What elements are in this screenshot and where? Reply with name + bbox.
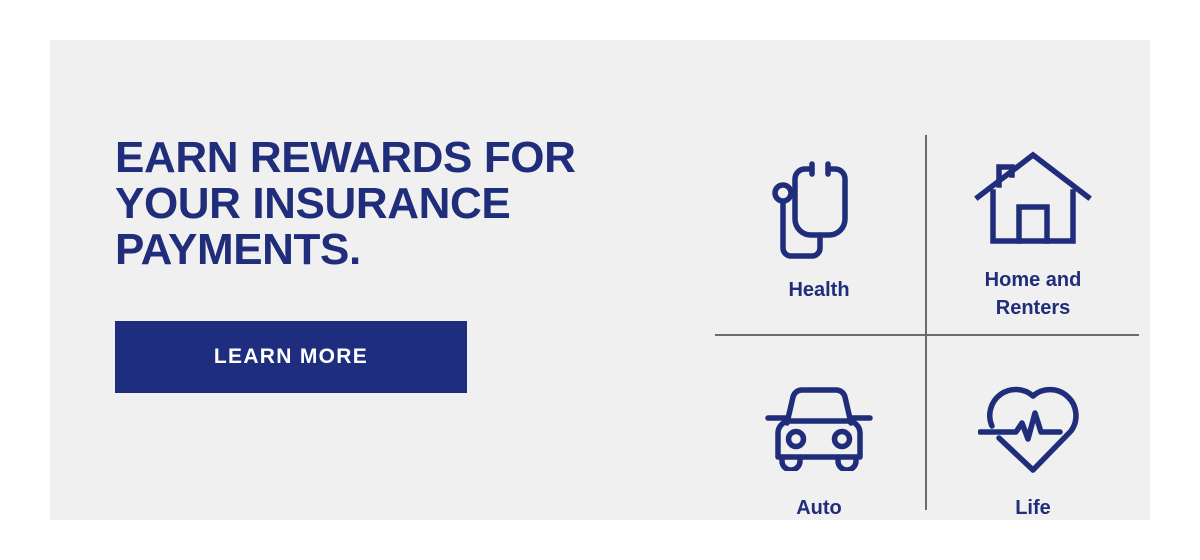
category-tile-auto[interactable]: Auto xyxy=(713,336,925,540)
page-title: EARN REWARDS FOR YOUR INSURANCE PAYMENTS… xyxy=(115,135,655,273)
learn-more-button[interactable]: LEARN MORE xyxy=(115,321,467,393)
category-tile-life[interactable]: Life xyxy=(927,336,1139,540)
promo-banner: EARN REWARDS FOR YOUR INSURANCE PAYMENTS… xyxy=(50,40,1150,520)
category-label-health: Health xyxy=(788,276,849,304)
category-tile-home-and-renters[interactable]: Home and Renters xyxy=(927,130,1139,334)
heart-pulse-icon xyxy=(978,378,1088,478)
banner-copy-column: EARN REWARDS FOR YOUR INSURANCE PAYMENTS… xyxy=(115,135,655,393)
category-label-auto: Auto xyxy=(796,494,842,522)
insurance-category-grid: Health Home and Renters xyxy=(713,130,1139,510)
stethoscope-icon xyxy=(769,152,869,262)
category-label-life: Life xyxy=(1015,494,1051,522)
category-tile-health[interactable]: Health xyxy=(713,130,925,334)
house-icon xyxy=(974,146,1092,256)
car-icon xyxy=(762,378,876,478)
category-label-home-and-renters: Home and Renters xyxy=(985,266,1082,322)
